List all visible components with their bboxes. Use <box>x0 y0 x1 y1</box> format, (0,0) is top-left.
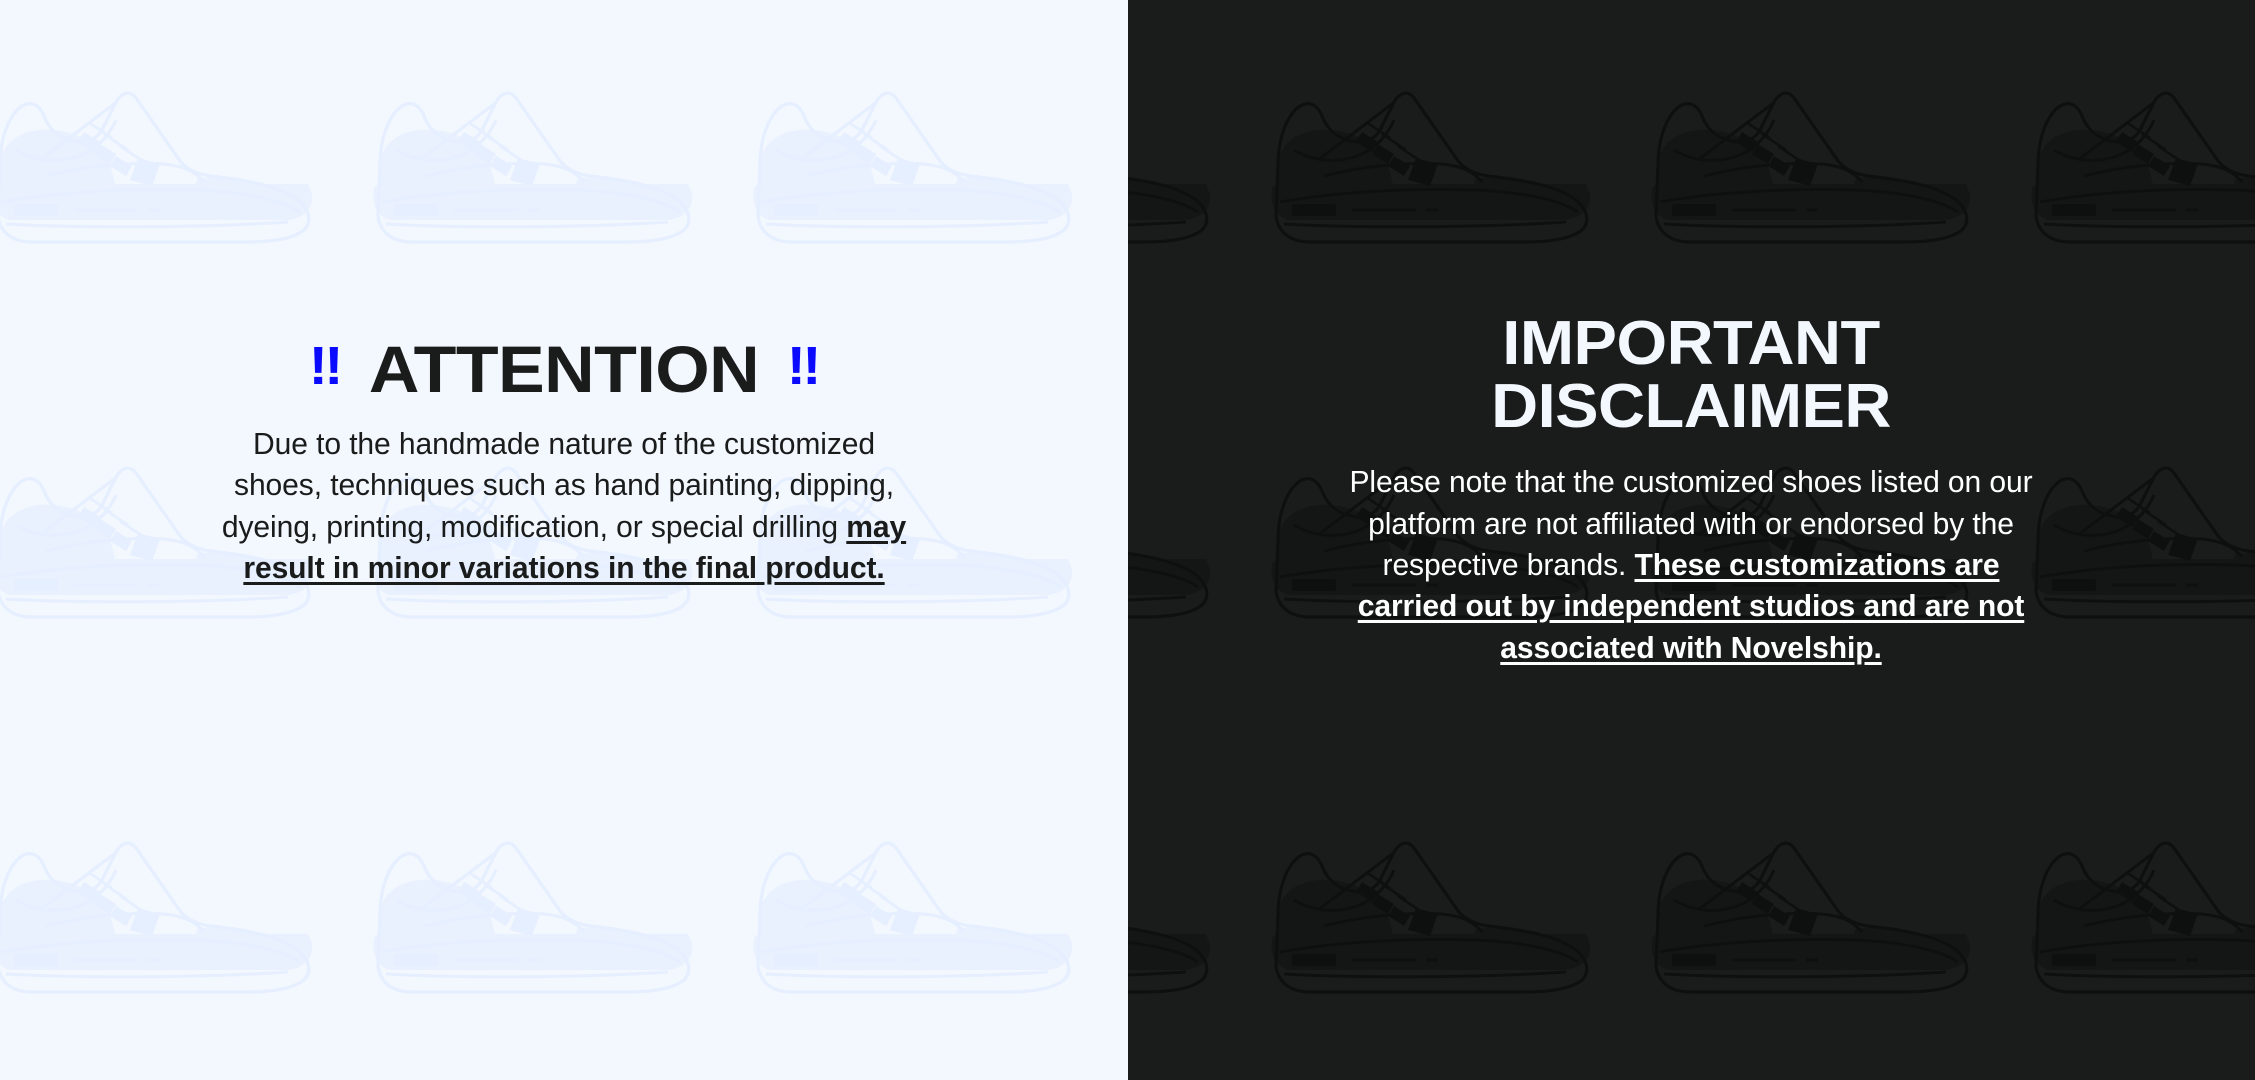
attention-panel: ‼ ATTENTION ‼ Due to the handmade nature… <box>0 0 1128 1080</box>
disclaimer-heading-line1: IMPORTANT <box>1287 312 2096 375</box>
disclaimer-content: IMPORTANT DISCLAIMER Please note that th… <box>1306 312 2076 669</box>
attention-body: Due to the handmade nature of the custom… <box>185 424 943 589</box>
attention-body-normal: Due to the handmade nature of the custom… <box>222 427 894 544</box>
disclaimer-body: Please note that the customized shoes li… <box>1312 462 2070 669</box>
disclaimer-banner: ‼ ATTENTION ‼ Due to the handmade nature… <box>0 0 2255 1080</box>
attention-content: ‼ ATTENTION ‼ Due to the handmade nature… <box>179 336 949 589</box>
disclaimer-heading: IMPORTANT DISCLAIMER <box>1287 312 2096 438</box>
disclaimer-panel: IMPORTANT DISCLAIMER Please note that th… <box>1128 0 2255 1080</box>
attention-heading-text: ATTENTION <box>369 336 759 402</box>
double-exclamation-icon-left: ‼ <box>309 339 341 393</box>
attention-heading: ‼ ATTENTION ‼ <box>156 336 972 402</box>
double-exclamation-icon-right: ‼ <box>786 339 818 393</box>
disclaimer-heading-line2: DISCLAIMER <box>1287 375 2096 438</box>
